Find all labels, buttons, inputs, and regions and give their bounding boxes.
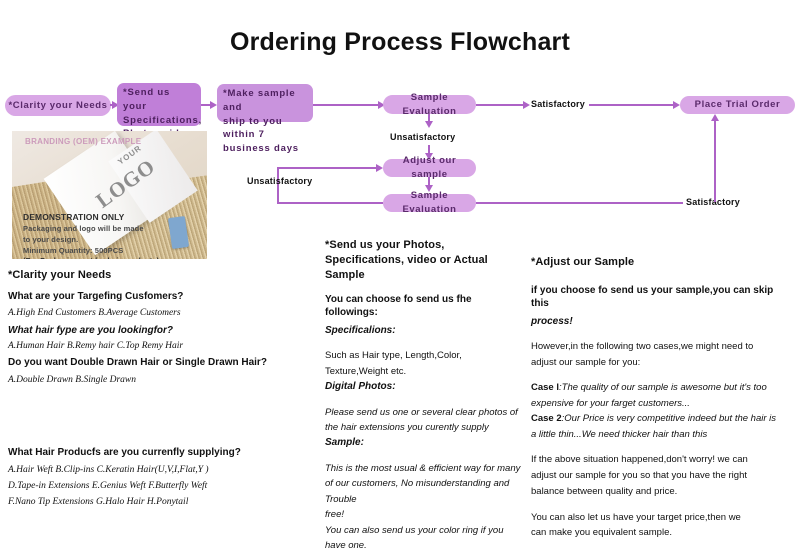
right-p2-line-2: adjust our sample for you so that you ha… — [531, 469, 793, 482]
photo-note-line-1: Packaging and logo will be made — [23, 224, 144, 233]
spacer-1 — [325, 340, 525, 349]
arrow-satisfactory-to-place-order-icon — [673, 101, 680, 109]
column-clarity-your-needs: *Clarity your Needs What are your Targef… — [8, 268, 313, 390]
spacer-3 — [325, 453, 525, 462]
left-answer-4-line-2: D.Tape-in Extensions E.Genius Weft F.But… — [8, 480, 313, 493]
right-heading: *Adjust our Sample — [531, 255, 793, 270]
column-hair-products-supplied: What Hair Producfs are you currenfly sup… — [8, 446, 313, 512]
mid-sample-line-1: This is the most usual & efficient way f… — [325, 462, 525, 475]
flow-node-sample-evaluation-2[interactable]: Sample Evaluation — [383, 194, 476, 212]
connector-eval2-loop-bottom — [277, 202, 383, 204]
right-p2-line-3: balance between quality and price. — [531, 485, 793, 498]
left-answer-2: A.Human Hair B.Remy hair C.Top Remy Hair — [8, 340, 313, 353]
mid-subheading-digital-photos: Digital Photos: — [325, 380, 525, 394]
right-p1-line-2: adjust our sample for you: — [531, 356, 793, 369]
right-case-2-line-1: :Our Price is very competitive indeed bu… — [562, 413, 776, 424]
connector-satisfactory-to-place-order — [589, 104, 676, 106]
photo-note-line-3: Minimum Quantity: 500PCS — [23, 246, 123, 255]
send-line-1: *Send us your — [123, 86, 195, 114]
mid-specs-line-2: Texture,Weight etc. — [325, 365, 525, 378]
connector-eval2-loop-top — [277, 167, 377, 169]
arrow-eval1-down-icon — [425, 121, 433, 128]
left-answer-4-line-1: A.Hair Weft B.Clip-ins C.Keratin Hair(U,… — [8, 464, 313, 477]
mid-sample-line-3: Trouble — [325, 493, 525, 506]
flow-node-send-us-specifications[interactable]: *Send us your Specifications, Photos,vid… — [117, 83, 201, 126]
arrow-send-to-make-icon — [210, 101, 217, 109]
right-intro-line-1: if you choose fo send us your sample,you… — [531, 284, 793, 311]
right-intro-line-2: process! — [531, 315, 793, 329]
connector-make-to-eval1 — [313, 104, 383, 106]
make-line-3: business days — [223, 142, 307, 156]
arrow-loop-to-adjust-icon — [376, 164, 383, 172]
right-p3-line-1: You can also let us have your target pri… — [531, 511, 793, 524]
column-adjust-our-sample: *Adjust our Sample if you choose fo send… — [531, 255, 793, 542]
spacer-2 — [325, 397, 525, 406]
mid-sample-line-6: have one. — [325, 539, 525, 552]
left-answer-1: A.High End Customers B.Average Customers — [8, 307, 313, 320]
left-question-1: What are your Targefing Cusfomers? — [8, 290, 313, 304]
right-case-1-key: Case l — [531, 382, 559, 393]
mid-specs-line-1: Such as Hair type, Length,Color, — [325, 349, 525, 362]
right-case-2: Case 2:Our Price is very competitive ind… — [531, 412, 793, 425]
mid-heading: *Send us your Photos, Specifications, vi… — [325, 238, 525, 283]
arrow-satisfactory-bottom-up-icon — [711, 114, 719, 121]
mid-subheading-specifications: Specificalions: — [325, 324, 525, 338]
edge-label-satisfactory-bottom: Satisfactory — [686, 197, 740, 207]
connector-eval2-to-satisfactory-bottom — [476, 202, 683, 204]
photo-note-line-2: to your design. — [23, 235, 78, 244]
flow-node-make-sample-and-ship[interactable]: *Make sample and ship to you within 7 bu… — [217, 84, 313, 122]
send-line-2: Specifications, — [123, 114, 195, 128]
right-case-1-line-1: :The quality of our sample is awesome bu… — [559, 382, 767, 393]
mid-heading-line-3: Sample — [325, 268, 525, 283]
mid-sample-line-5: You can also send us your color ring if … — [325, 524, 525, 537]
left-question-3: Do you want Double Drawn Hair or Single … — [8, 356, 313, 370]
photo-demonstration-label: DEMONSTRATION ONLY — [23, 212, 124, 222]
mid-sample-line-4: free! — [325, 508, 525, 521]
edge-label-unsatisfactory-top: Unsatisfactory — [390, 132, 455, 142]
right-case-1: Case l:The quality of our sample is awes… — [531, 381, 793, 394]
left-question-2: What hair fype are you lookingfor? — [8, 324, 313, 338]
flow-node-sample-evaluation-1[interactable]: Sample Evaluation — [383, 95, 476, 114]
flow-node-clarity-your-needs[interactable]: *Clarity your Needs — [5, 95, 111, 116]
mid-sample-line-2: of our customers, No misunderstanding an… — [325, 477, 525, 490]
edge-label-satisfactory-top: Satisfactory — [531, 99, 585, 109]
edge-label-unsatisfactory-loop: Unsatisfactory — [247, 176, 312, 186]
column-send-us-your-photos: *Send us your Photos, Specifications, vi… — [325, 238, 525, 555]
connector-satisfactory-bottom-up — [714, 121, 716, 202]
mid-photos-line-1: Please send us one or several clear phot… — [325, 406, 525, 419]
right-p3-line-2: can make you equivalent sample. — [531, 526, 793, 539]
mid-heading-line-2: Specifications, video or Actual — [325, 253, 525, 268]
left-answer-3: A.Double Drawn B.Single Drawn — [8, 374, 313, 387]
mid-photos-line-2: the hair extensions you curently supply — [325, 421, 525, 434]
flow-node-adjust-our-sample[interactable]: Adjust our sample — [383, 159, 476, 177]
page-root: Ordering Process Flowchart *Clarity your… — [0, 0, 800, 528]
branding-example-photo: YOUR LOGO BRANDING (OEM) EXAMPLE DEMONST… — [12, 131, 207, 259]
right-case-2-line-2: a little thin...We need thicker hair tha… — [531, 428, 793, 441]
mid-heading-line-1: *Send us your Photos, — [325, 238, 525, 253]
mid-subheading-sample: Sample: — [325, 436, 525, 450]
arrow-eval1-to-satisfactory-icon — [523, 101, 530, 109]
left-answer-4-line-3: F.Nano Tip Extensions G.Halo Hair H.Pony… — [8, 496, 313, 509]
page-title: Ordering Process Flowchart — [0, 28, 800, 57]
make-line-2: ship to you within 7 — [223, 115, 307, 143]
connector-eval1-to-satisfactory — [476, 104, 528, 106]
photo-note-line-4: (For Packaging,not for hair products) — [23, 256, 159, 259]
left-heading: *Clarity your Needs — [8, 268, 313, 283]
left-question-4: What Hair Producfs are you currenfly sup… — [8, 446, 313, 460]
right-p1-line-1: However,in the following two cases,we mi… — [531, 340, 793, 353]
right-case-1-line-2: expensive for your farget customers... — [531, 397, 793, 410]
photo-branding-label: BRANDING (OEM) EXAMPLE — [25, 137, 141, 146]
mid-intro: You can choose fo send us fhe followings… — [325, 293, 525, 320]
flow-node-place-trial-order[interactable]: Place Trial Order — [680, 96, 795, 114]
right-p2-line-1: If the above situation happened,don't wo… — [531, 453, 793, 467]
right-case-2-key: Case 2 — [531, 413, 562, 424]
make-line-1: *Make sample and — [223, 87, 307, 115]
